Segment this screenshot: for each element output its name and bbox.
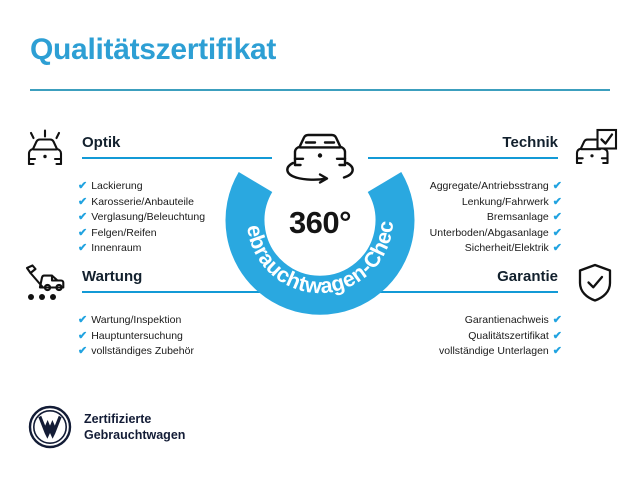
- check-icon: ✔: [553, 330, 562, 342]
- list-item-label: Unterboden/Abgasanlage: [430, 227, 549, 239]
- check-icon: ✔: [553, 196, 562, 208]
- volkswagen-logo: [28, 405, 72, 449]
- check-icon: ✔: [78, 196, 87, 208]
- list-item-label: Hauptuntersuchung: [91, 330, 183, 342]
- checklist-garantie: Garantienachweis✔ Qualitätszertifikat✔ v…: [368, 313, 618, 360]
- list-item-label: Karosserie/Anbauteile: [91, 196, 194, 208]
- footer-line-2: Gebrauchtwagen: [84, 427, 185, 443]
- list-item-label: Lackierung: [91, 180, 142, 192]
- badge-360-gebrauchtwagen-check: Gebrauchtwagen-Check 360°: [222, 122, 418, 318]
- list-item-label: vollständige Unterlagen: [439, 345, 549, 357]
- list-item-label: Aggregate/Antriebsstrang: [430, 180, 549, 192]
- list-item-label: Sicherheit/Elektrik: [465, 242, 549, 254]
- list-item-label: Garantienachweis: [465, 314, 549, 326]
- checklist-wartung: ✔Wartung/Inspektion ✔Hauptuntersuchung ✔…: [22, 313, 272, 360]
- list-item-label: Bremsanlage: [487, 211, 549, 223]
- check-icon: ✔: [78, 227, 87, 239]
- list-item: vollständige Unterlagen✔: [368, 344, 562, 360]
- shield-check-icon: [572, 262, 618, 304]
- check-icon: ✔: [78, 180, 87, 192]
- list-item-label: Verglasung/Beleuchtung: [91, 211, 205, 223]
- list-item-label: Lenkung/Fahrwerk: [462, 196, 549, 208]
- check-icon: ✔: [78, 242, 87, 254]
- check-icon: ✔: [78, 345, 87, 357]
- car-front-checkbox-icon: [572, 128, 618, 170]
- check-icon: ✔: [553, 242, 562, 254]
- check-icon: ✔: [553, 180, 562, 192]
- car-front-shine-icon: [22, 128, 68, 170]
- check-icon: ✔: [78, 211, 87, 223]
- check-icon: ✔: [78, 330, 87, 342]
- list-item-label: Wartung/Inspektion: [91, 314, 181, 326]
- list-item: Qualitätszertifikat✔: [368, 329, 562, 345]
- list-item: ✔vollständiges Zubehör: [78, 344, 272, 360]
- title-divider: [30, 89, 610, 91]
- list-item: ✔Hauptuntersuchung: [78, 329, 272, 345]
- list-item-label: Innenraum: [91, 242, 141, 254]
- footer-line-1: Zertifizierte: [84, 411, 185, 427]
- list-item-label: Qualitätszertifikat: [468, 330, 549, 342]
- list-item-label: Felgen/Reifen: [91, 227, 156, 239]
- check-icon: ✔: [553, 227, 562, 239]
- page-title: Qualitätszertifikat: [30, 33, 276, 67]
- wrench-car-icon: [22, 262, 68, 304]
- check-icon: ✔: [553, 314, 562, 326]
- car-rotate-360-icon: [279, 124, 361, 186]
- check-icon: ✔: [78, 314, 87, 326]
- list-item-label: vollständiges Zubehör: [91, 345, 194, 357]
- check-icon: ✔: [553, 345, 562, 357]
- footer-brand-text: Zertifizierte Gebrauchtwagen: [84, 411, 185, 443]
- footer-brand: Zertifizierte Gebrauchtwagen: [28, 405, 185, 449]
- check-icon: ✔: [553, 211, 562, 223]
